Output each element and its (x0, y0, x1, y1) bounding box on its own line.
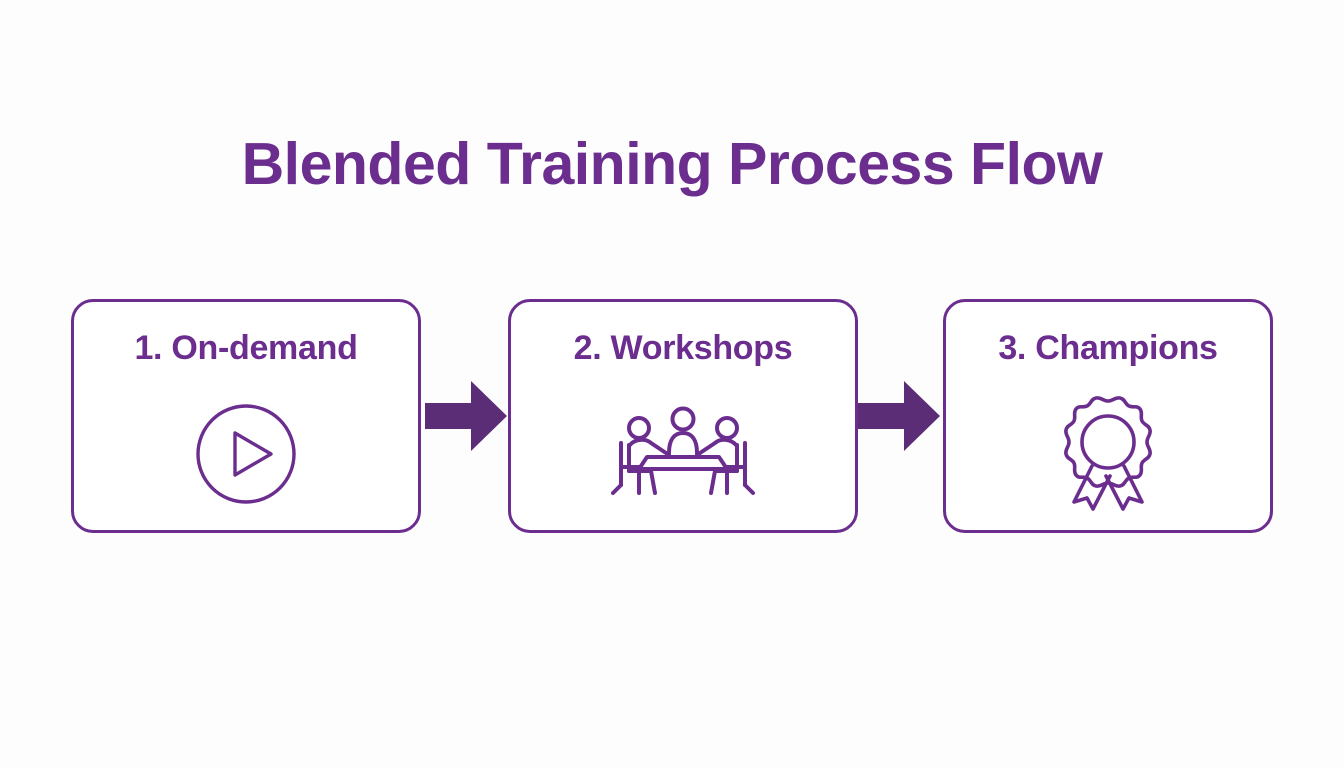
flow-step-label-workshops: 2. Workshops (511, 330, 855, 367)
flow-step-card-workshops[interactable]: 2. Workshops (508, 299, 858, 533)
arrow-right-icon-1 (425, 377, 507, 455)
flow-step-card-champions[interactable]: 3. Champions (943, 299, 1273, 533)
page-title: Blended Training Process Flow (0, 134, 1344, 196)
flow-step-label-champions: 3. Champions (946, 330, 1270, 367)
meeting-table-icon (511, 392, 855, 516)
flow-step-label-on-demand: 1. On-demand (74, 330, 418, 367)
process-flow-row: 1. On-demand 2. Workshops (0, 299, 1344, 535)
award-ribbon-icon (946, 392, 1270, 516)
play-circle-icon (74, 392, 418, 516)
arrow-right-icon-2 (858, 377, 940, 455)
slide-canvas: Blended Training Process Flow 1. On-dema… (0, 0, 1344, 768)
flow-step-card-on-demand[interactable]: 1. On-demand (71, 299, 421, 533)
